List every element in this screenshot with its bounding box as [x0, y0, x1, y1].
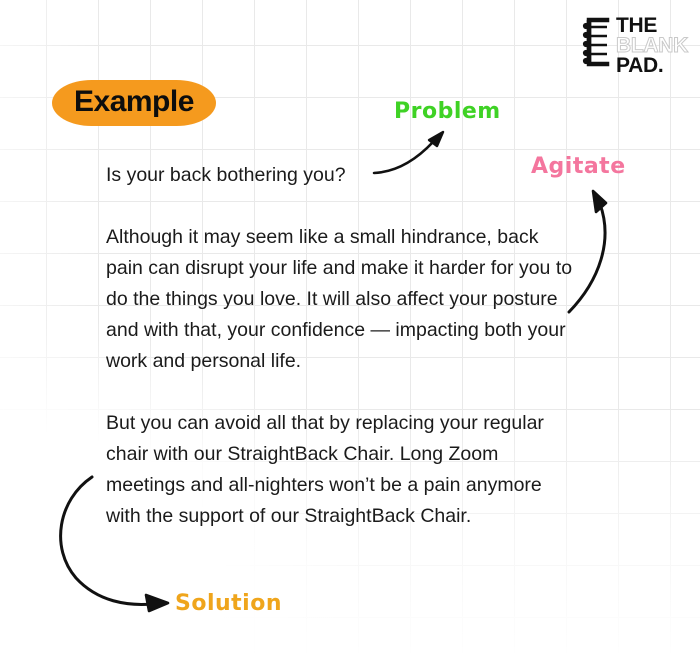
- paragraph-solution: But you can avoid all that by replacing …: [106, 408, 576, 532]
- logo-line-pad: PAD.: [616, 56, 688, 76]
- annotation-label-solution: Solution: [175, 591, 282, 616]
- paragraph-problem: Is your back bothering you?: [106, 160, 576, 191]
- logo-wordmark: THE BLANK PAD.: [616, 16, 688, 76]
- logo-line-blank: BLANK: [616, 36, 688, 56]
- brand-logo: THE BLANK PAD.: [580, 16, 688, 76]
- slide-canvas: THE BLANK PAD. Example Problem Agitate S…: [0, 0, 700, 653]
- annotation-label-problem: Problem: [394, 99, 501, 124]
- logo-line-the: THE: [616, 16, 688, 36]
- body-copy: Is your back bothering you? Although it …: [106, 160, 576, 532]
- example-badge: Example: [52, 80, 216, 126]
- paragraph-agitate: Although it may seem like a small hindra…: [106, 222, 576, 377]
- notepad-icon: [580, 17, 610, 72]
